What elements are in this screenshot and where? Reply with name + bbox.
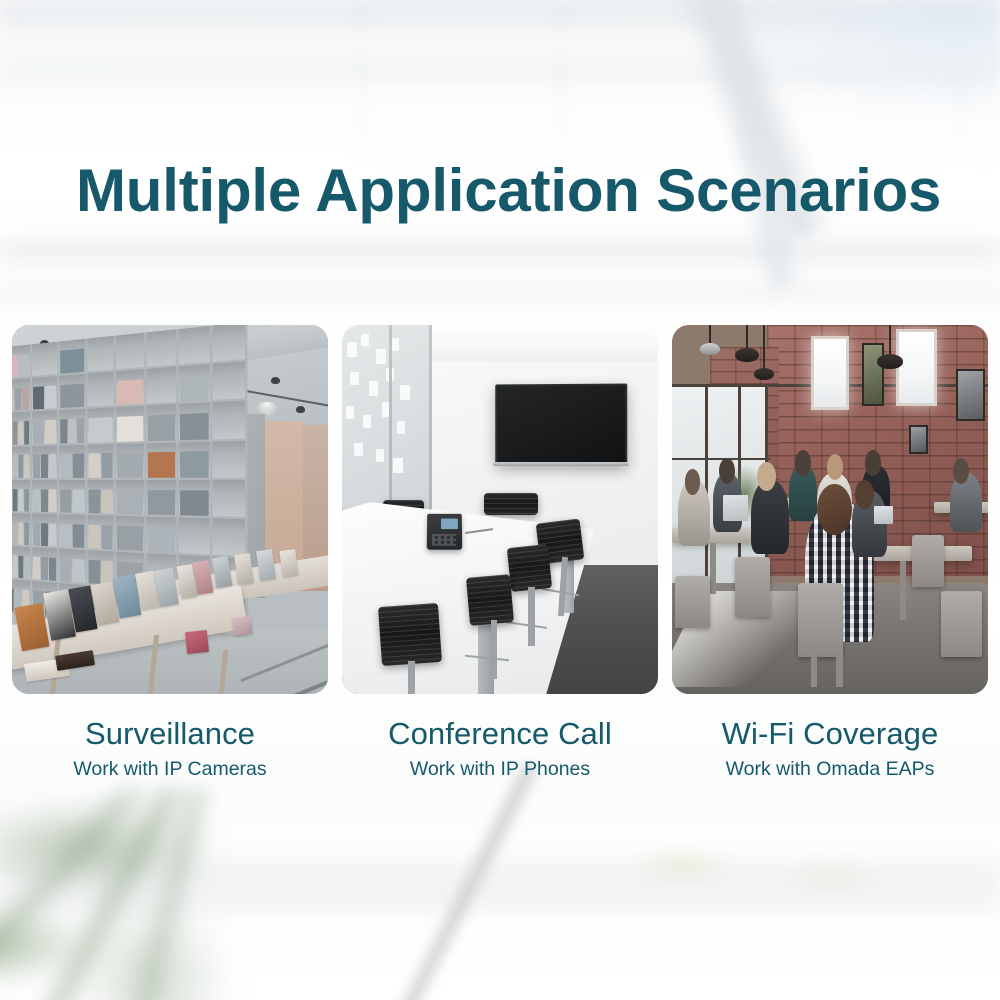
background-warm-blur [600,820,930,910]
ip-phone [427,514,462,550]
library-photo [12,325,328,694]
scenario-subtitle: Work with IP Cameras [12,756,328,782]
scenario-image-conference-call [342,325,658,694]
scenario-title: Wi-Fi Coverage [672,714,988,754]
cafe-photo [672,325,988,694]
scenario-title: Surveillance [12,714,328,754]
scenario-card-row [12,325,988,694]
wall-mounted-display [495,384,627,466]
scenario-caption-wifi-coverage: Wi-Fi Coverage Work with Omada EAPs [672,714,988,782]
marketing-banner: Multiple Application Scenarios [0,0,1000,1000]
scenario-title: Conference Call [342,714,658,754]
scenario-caption-surveillance: Surveillance Work with IP Cameras [12,714,328,782]
scenario-subtitle: Work with Omada EAPs [672,756,988,782]
scenario-caption-row: Surveillance Work with IP Cameras Confer… [12,714,988,782]
scenario-caption-conference-call: Conference Call Work with IP Phones [342,714,658,782]
page-title: Multiple Application Scenarios [76,160,956,221]
scenario-image-surveillance [12,325,328,694]
scenario-image-wifi-coverage [672,325,988,694]
scenario-subtitle: Work with IP Phones [342,756,658,782]
conference-room-photo [342,325,658,694]
background-plant-fronds [0,790,300,1000]
